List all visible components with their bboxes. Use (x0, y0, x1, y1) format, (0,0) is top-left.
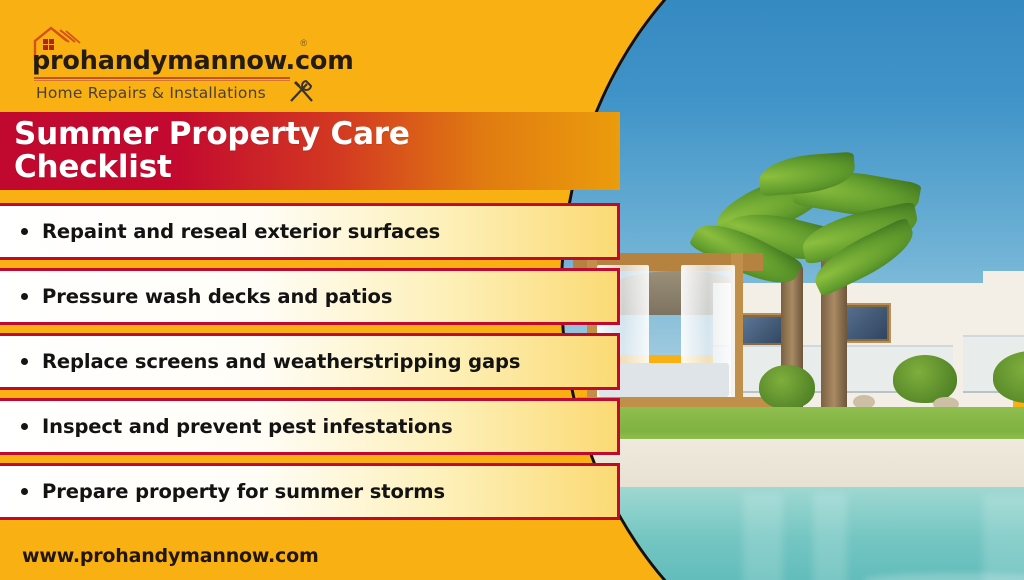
brand-tagline: Home Repairs & Installations (36, 84, 266, 102)
list-item[interactable]: Pressure wash decks and patios (0, 268, 620, 325)
page-title-line1: Summer Property Care (14, 118, 410, 151)
left-content-column: prohandymannow.com ® Home Repairs & Inst… (0, 0, 660, 580)
pool-reflection (743, 493, 783, 580)
list-item[interactable]: Replace screens and weatherstripping gap… (0, 333, 620, 390)
registered-mark: ® (300, 38, 307, 48)
list-item-label: Repaint and reseal exterior surfaces (42, 220, 440, 243)
logo-divider-secondary (34, 80, 290, 81)
list-item-label: Replace screens and weatherstripping gap… (42, 350, 520, 373)
checklist: Repaint and reseal exterior surfaces Pre… (0, 203, 620, 528)
list-item-label: Pressure wash decks and patios (42, 285, 392, 308)
bullet-icon (21, 358, 28, 365)
logo-divider (34, 77, 290, 79)
title-banner: Summer Property Care Checklist (0, 112, 620, 190)
list-item-label: Inspect and prevent pest infestations (42, 415, 453, 438)
list-item[interactable]: Prepare property for summer storms (0, 463, 620, 520)
wrench-screwdriver-icon (287, 78, 317, 104)
page-title: Summer Property Care Checklist (0, 118, 410, 185)
infographic-canvas: prohandymannow.com ® Home Repairs & Inst… (0, 0, 1024, 580)
list-item-label: Prepare property for summer storms (42, 480, 445, 503)
shrub (893, 355, 957, 403)
pool-reflection (983, 495, 1024, 580)
website-url[interactable]: www.prohandymannow.com (0, 545, 319, 567)
window-glass (739, 317, 785, 343)
shrub (759, 365, 815, 409)
page-title-line2: Checklist (14, 151, 410, 184)
footer-bar: www.prohandymannow.com (0, 532, 660, 580)
list-item[interactable]: Inspect and prevent pest infestations (0, 398, 620, 455)
brand-wordmark: prohandymannow.com (32, 46, 354, 76)
list-item[interactable]: Repaint and reseal exterior surfaces (0, 203, 620, 260)
bullet-icon (21, 423, 28, 430)
bullet-icon (21, 293, 28, 300)
pool-reflection (813, 493, 847, 580)
bullet-icon (21, 488, 28, 495)
brand-logo[interactable]: prohandymannow.com ® Home Repairs & Inst… (24, 26, 299, 104)
bullet-icon (21, 228, 28, 235)
